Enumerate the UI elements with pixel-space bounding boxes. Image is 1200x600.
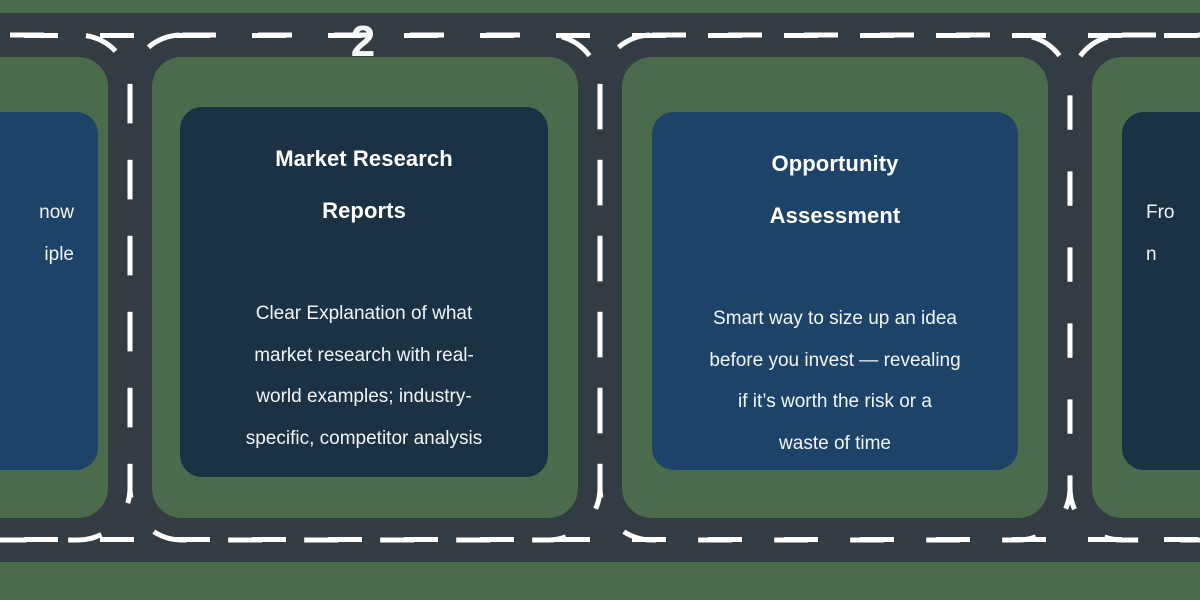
step-card-2[interactable]: Market Research Reports Clear Explanatio… [180, 107, 548, 477]
step-card-3-body-line-2: before you invest — revealing [676, 340, 994, 382]
step-card-3-body-line-4: waste of time [676, 423, 994, 465]
step-card-2-body-line-2: market research with real- [204, 335, 524, 377]
step-card-2-body-line-3: world examples; industry- [204, 376, 524, 418]
step-card-3-body-line-3: if it’s worth the risk or a [676, 381, 994, 423]
step-card-2-title-line-2: Reports [204, 185, 524, 237]
step-card-2-title-line-1: Market Research [204, 133, 524, 185]
step-card-3[interactable]: Opportunity Assessment Smart way to size… [652, 112, 1018, 470]
step-card-2-body-line-1: Clear Explanation of what [204, 293, 524, 335]
step-card-1-body: now iple [0, 192, 74, 275]
step-card-3-title-line-1: Opportunity [676, 138, 994, 190]
step-card-4-body-line-1: Fro [1146, 192, 1200, 234]
roadmap-infographic: 2 now iple Market Research Reports Clear… [0, 0, 1200, 600]
step-number-2: 2 [303, 20, 423, 64]
step-card-1[interactable]: now iple [0, 112, 98, 470]
step-card-3-title-line-2: Assessment [676, 190, 994, 242]
step-card-4-body-line-2: n [1146, 234, 1200, 276]
step-card-2-body-line-4: specific, competitor analysis [204, 418, 524, 460]
step-card-3-body-line-1: Smart way to size up an idea [676, 298, 994, 340]
step-card-4[interactable]: Fro n [1122, 112, 1200, 470]
